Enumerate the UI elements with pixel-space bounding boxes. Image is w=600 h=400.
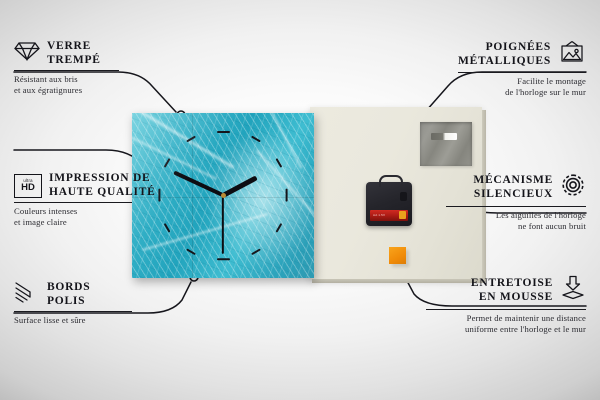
callout-header: ultra HD IMPRESSION DE HAUTE QUALITÉ bbox=[14, 172, 189, 199]
polished-edge-icon bbox=[14, 281, 40, 308]
callout-rule bbox=[458, 72, 586, 73]
callout-title-line2: POLIS bbox=[47, 295, 90, 309]
mechanism-hook bbox=[379, 175, 403, 187]
callout-subtitle-line2: ne font aucun bruit bbox=[401, 221, 586, 232]
foam-spacer-arrow-icon bbox=[560, 275, 586, 306]
hanger-slot bbox=[431, 133, 457, 140]
callout-header: VERRE TREMPÉ bbox=[14, 40, 174, 67]
callout-header: POIGNÉES MÉTALLIQUES bbox=[406, 40, 586, 69]
callout-verre-trempe[interactable]: VERRE TREMPÉ Résistant aux bris et aux é… bbox=[14, 40, 174, 95]
callout-subtitle-line2: et aux égratignures bbox=[14, 85, 174, 96]
callout-impression-haute-qualite[interactable]: ultra HD IMPRESSION DE HAUTE QUALITÉ Cou… bbox=[14, 172, 189, 227]
callout-mecanisme-silencieux[interactable]: MÉCANISME SILENCIEUX Les aiguilles de l'… bbox=[401, 172, 586, 231]
callout-bords-polis[interactable]: BORDS POLIS Surface lisse et sûre bbox=[14, 281, 174, 326]
callout-subtitle-line1: Résistant aux bris bbox=[14, 74, 174, 85]
callout-subtitle-line1: Les aiguilles de l'horloge bbox=[401, 210, 586, 221]
callout-title-line1: VERRE bbox=[47, 40, 101, 54]
callout-entretoise-en-mousse[interactable]: ENTRETOISE EN MOUSSE Permet de maintenir… bbox=[396, 275, 586, 334]
callout-rule bbox=[14, 70, 119, 71]
metallic-hanger-plate bbox=[420, 122, 472, 166]
infographic-canvas: AA 1.5V bbox=[0, 0, 600, 400]
callout-subtitle-line2: de l'horloge sur le mur bbox=[406, 87, 586, 98]
callout-header: ENTRETOISE EN MOUSSE bbox=[396, 275, 586, 306]
gear-icon bbox=[560, 172, 586, 203]
callout-title-line2: MÉTALLIQUES bbox=[458, 55, 551, 69]
callout-rule bbox=[14, 202, 132, 203]
battery-label: AA 1.5V bbox=[373, 213, 385, 217]
callout-subtitle-line1: Permet de maintenir une distance bbox=[396, 313, 586, 324]
callout-title-line2: HAUTE QUALITÉ bbox=[49, 186, 156, 200]
callout-title-line1: IMPRESSION DE bbox=[49, 172, 156, 186]
callout-header: BORDS POLIS bbox=[14, 281, 174, 308]
callout-subtitle-line2: uniforme entre l'horloge et le mur bbox=[396, 324, 586, 335]
callout-title-line1: BORDS bbox=[47, 281, 90, 295]
callout-subtitle-line1: Surface lisse et sûre bbox=[14, 315, 174, 326]
callout-title-line2: TREMPÉ bbox=[47, 54, 101, 68]
callout-header: MÉCANISME SILENCIEUX bbox=[401, 172, 586, 203]
callout-rule bbox=[446, 206, 586, 207]
callout-poignees-metalliques[interactable]: POIGNÉES MÉTALLIQUES Facilite le montage… bbox=[406, 40, 586, 97]
callout-title-line1: ENTRETOISE bbox=[471, 277, 553, 291]
callout-title-line1: POIGNÉES bbox=[458, 41, 551, 55]
picture-frame-hanger-icon bbox=[558, 40, 586, 69]
diamond-icon bbox=[14, 41, 40, 66]
callout-rule bbox=[14, 311, 132, 312]
ultra-hd-icon-large-text: HD bbox=[21, 183, 35, 193]
callout-title-line2: SILENCIEUX bbox=[473, 188, 553, 202]
callout-subtitle-line2: et image claire bbox=[14, 217, 189, 228]
callout-title-line1: MÉCANISME bbox=[473, 174, 553, 188]
foam-spacer bbox=[389, 247, 406, 264]
callout-rule bbox=[426, 309, 586, 310]
callout-title-line2: EN MOUSSE bbox=[471, 291, 553, 305]
ultra-hd-icon: ultra HD bbox=[14, 174, 42, 198]
callout-subtitle-line1: Facilite le montage bbox=[406, 76, 586, 87]
callout-subtitle-line1: Couleurs intenses bbox=[14, 206, 189, 217]
